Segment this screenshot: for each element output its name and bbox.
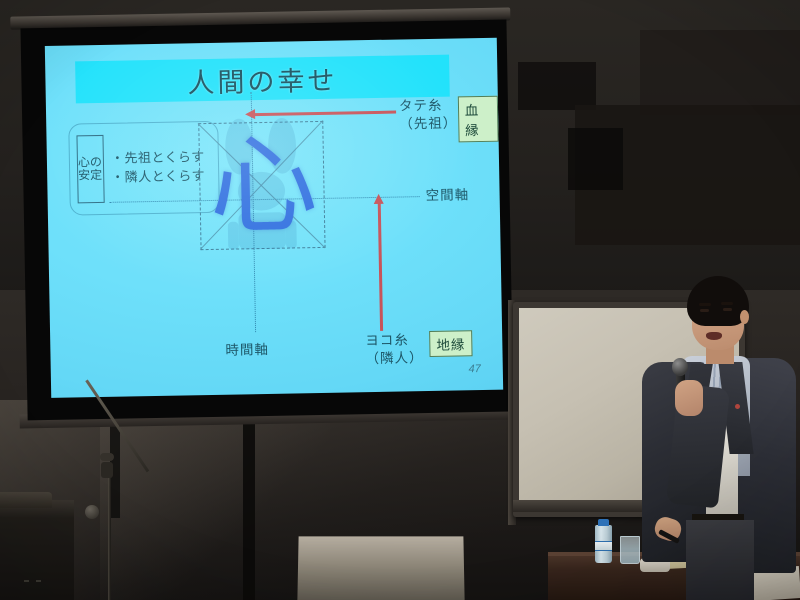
microphone-stand-clamp [101, 462, 113, 478]
mind-stability-bullets: ・先祖とくらす ・隣人とくらす [111, 148, 206, 187]
presenter-hand-holding-mic [675, 380, 703, 416]
wall-pillar-center [243, 412, 255, 600]
presenter-eye-left [700, 309, 709, 312]
projected-slide: 人間の幸せ 心の安定 ・先祖とくらす ・隣人とくらす 空間軸 時間軸 [45, 38, 503, 398]
slide-page-number: 47 [468, 363, 480, 375]
presenter-figure [620, 276, 800, 600]
tate-thread-name: タテ糸 [399, 97, 452, 116]
equipment-indicator-2 [36, 580, 41, 582]
bullet-item-1: ・隣人とくらす [111, 167, 205, 188]
space-axis-label: 空間軸 [425, 183, 469, 204]
yoko-thread-name: ヨコ糸 [365, 331, 423, 350]
microphone-stand-pole [108, 474, 111, 600]
lecture-room-scene: 人間の幸せ 心の安定 ・先祖とくらす ・隣人とくらす 空間軸 時間軸 [0, 0, 800, 600]
tate-thread-chip-ketsuen: 血縁 [457, 96, 498, 143]
equipment-indicator-1 [24, 580, 29, 582]
projection-screen-frame: 人間の幸せ 心の安定 ・先祖とくらす ・隣人とくらす 空間軸 時間軸 [20, 20, 513, 421]
water-bottle-cap [598, 519, 609, 526]
presenter-eye-right [723, 308, 732, 311]
presenter-ear [740, 310, 749, 324]
small-round-fixture [85, 505, 99, 519]
microphone-head [672, 358, 688, 376]
yoko-thread-arrow-up [378, 203, 383, 331]
equipment-cabinet-top [0, 492, 52, 508]
mind-stability-vertical-label: 心の安定 [76, 135, 104, 203]
presenter-mouth [706, 332, 722, 340]
equipment-cabinet [0, 500, 74, 600]
cloth-covered-side-table [297, 536, 464, 600]
wall-panel-c [568, 128, 623, 190]
bullet-item-0: ・先祖とくらす [111, 148, 205, 169]
water-bottle-label [595, 541, 612, 551]
yoko-thread-sub: （隣人） [365, 349, 423, 368]
yoko-thread-chip-chien: 地縁 [429, 330, 472, 357]
presenter-trousers [686, 520, 754, 600]
tate-thread-group: タテ糸 （先祖） 血縁 [399, 96, 499, 144]
center-kanji-kokoro: 心 [196, 111, 331, 263]
yoko-thread-group: ヨコ糸 （隣人） 地縁 [365, 330, 473, 368]
wall-panel-dark-large [640, 30, 800, 115]
wall-panel-a [518, 62, 596, 110]
presenter-eyebrow-left [699, 303, 711, 306]
projection-screen-assembly: 人間の幸せ 心の安定 ・先祖とくらす ・隣人とくらす 空間軸 時間軸 [4, 7, 523, 428]
tate-thread-sub: （先祖） [399, 115, 452, 134]
presenter-eyebrow-right [721, 302, 733, 305]
slide-title: 人間の幸せ [187, 58, 338, 100]
microphone-stand-head [100, 453, 114, 461]
presenter-lapel-pin [735, 404, 740, 409]
slide-title-band: 人間の幸せ [75, 55, 450, 104]
time-axis-label: 時間軸 [225, 338, 269, 359]
